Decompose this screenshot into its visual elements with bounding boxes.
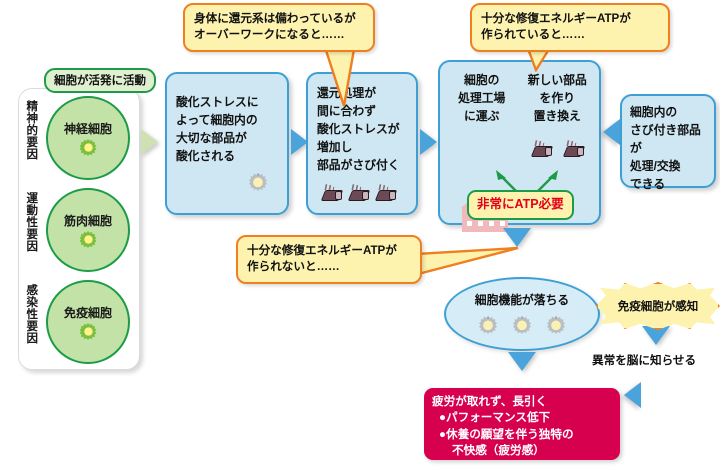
callout-reduction-line-1: 身体に還元系は備わっているが	[194, 11, 364, 27]
recovered-line-4: できる	[630, 176, 705, 194]
rust-line-5: 部品がさび付く	[317, 157, 407, 175]
damaged-cell-icon	[547, 316, 565, 334]
immune-detection-label: 免疫細胞が感知	[618, 298, 699, 314]
fatigue-bullet-2-text: 休養の願望を伴う独特の	[446, 428, 574, 441]
factor-label-exercise: 運動性要因	[25, 192, 37, 252]
recovered-line-3: 処理/交換	[630, 158, 705, 176]
oxidative-line-3: 大切な部品が	[176, 130, 278, 148]
rusted-part-icon	[532, 144, 552, 157]
step-repair-box: 細胞の 処理工場 に運ぶ 新しい部品 を作り 置き換え	[438, 60, 601, 225]
callout-atp-insufficient: 十分な修復エネルギーATPが 作られないと……	[236, 235, 422, 284]
brain-alert-note: 異常を脳に知らせる	[592, 352, 696, 368]
repair-transport-label-group: 細胞の 処理工場 に運ぶ	[446, 72, 518, 126]
cell-immune: 免疫細胞	[46, 280, 130, 364]
immune-detection-burst: 免疫細胞が感知	[596, 282, 720, 330]
nucleus-icon	[80, 231, 97, 248]
callout-reduction-system: 身体に還元系は備わっているが オーバーワークになると……	[183, 3, 375, 52]
rusted-parts-group	[322, 188, 396, 201]
rusted-part-icon	[349, 188, 369, 201]
rust-line-4: 増加し	[317, 139, 407, 157]
factor-label-mental: 精神的要因	[25, 100, 37, 160]
repair-left-line-1: 細胞の	[446, 72, 518, 90]
cell-muscle-label: 筋肉細胞	[64, 212, 112, 229]
damaged-cells-group	[446, 316, 598, 334]
fatigue-bullet-2-mark: ●	[439, 428, 446, 441]
callout-atp-low-line-2: 作られないと……	[247, 259, 411, 275]
arrow-rust-to-repair	[420, 129, 437, 155]
fatigue-mechanism-diagram: 細胞が活発に活動 精神的要因 運動性要因 感染性要因 神経細胞 筋肉細胞 免疫細…	[0, 0, 720, 468]
repair-left-line-2: 処理工場	[446, 90, 518, 108]
rusted-part-icon	[376, 188, 396, 201]
callout-atp-enough-line-2: 作られていると……	[481, 27, 659, 43]
repair-left-line-3: に運ぶ	[446, 108, 518, 126]
repair-replace-label-group: 新しい部品 を作り 置き換え	[522, 72, 594, 126]
rusted-part-icon	[322, 188, 342, 201]
atp-required-badge: 非常にATP必要	[467, 190, 574, 220]
repair-right-line-1: 新しい部品	[522, 72, 594, 90]
active-cells-badge: 細胞が活発に活動	[44, 68, 156, 93]
arrow-brain-to-fatigue	[624, 382, 641, 408]
cell-immune-label: 免疫細胞	[64, 304, 112, 321]
step-oxidative-stress-box: 酸化ストレスに よって細胞内の 大切な部品が 酸化される	[165, 72, 289, 215]
fatigue-bullet-1: ●パフォーマンス低下	[432, 410, 613, 426]
arrow-recovered-to-repair	[603, 119, 620, 145]
damaged-cell-icon	[479, 316, 497, 334]
repair-right-line-2: を作り	[522, 90, 594, 108]
nucleus-icon	[80, 139, 97, 156]
fatigue-conclusion-box: 疲労が取れず、長引く ●パフォーマンス低下 ●休養の願望を伴う独特の 不快感（疲…	[424, 388, 620, 460]
callout-reduction-line-2: オーバーワークになると……	[194, 27, 364, 43]
arrow-cells-to-oxidative	[141, 129, 158, 155]
fatigue-headline: 疲労が取れず、長引く	[432, 394, 613, 410]
oxidative-line-2: よって細胞内の	[176, 112, 278, 130]
callout-atp-enough-line-1: 十分な修復エネルギーATPが	[481, 11, 659, 27]
fatigue-bullet-1-text: パフォーマンス低下	[446, 411, 550, 424]
oxidative-line-4: 酸化される	[176, 148, 278, 166]
damaged-cell-icon	[513, 316, 531, 334]
recovered-line-2: さび付き部品が	[630, 122, 705, 158]
repair-right-line-3: 置き換え	[522, 108, 594, 126]
oxidative-line-1: 酸化ストレスに	[176, 94, 278, 112]
fatigue-bullet-2: ●休養の願望を伴う独特の	[432, 427, 613, 443]
cell-neuron-label: 神経細胞	[64, 120, 112, 137]
reactive-oxygen-species-icon	[249, 173, 267, 191]
arrow-function-drop-to-fatigue	[508, 352, 536, 371]
callout-atp-low-line-1: 十分な修復エネルギーATPが	[247, 243, 411, 259]
factor-label-infection: 感染性要因	[25, 284, 37, 344]
nucleus-icon	[80, 323, 97, 340]
cell-neuron: 神経細胞	[46, 96, 130, 180]
rusted-part-icon	[564, 144, 584, 157]
fatigue-bullet-1-mark: ●	[439, 411, 446, 424]
arrow-repair-to-function-drop	[503, 228, 531, 247]
recovered-line-1: 細胞内の	[630, 104, 705, 122]
callout-atp-insufficient-tail	[414, 246, 524, 296]
new-parts-group	[532, 144, 584, 157]
callout-atp-sufficient: 十分な修復エネルギーATPが 作られていると……	[470, 3, 670, 52]
rust-line-3: 酸化ストレスが	[317, 121, 407, 139]
cell-muscle: 筋肉細胞	[46, 188, 130, 272]
fatigue-bullet-2-cont: 不快感（疲労感）	[432, 443, 613, 459]
step-recovered-box: 細胞内の さび付き部品が 処理/交換 できる	[620, 94, 716, 188]
